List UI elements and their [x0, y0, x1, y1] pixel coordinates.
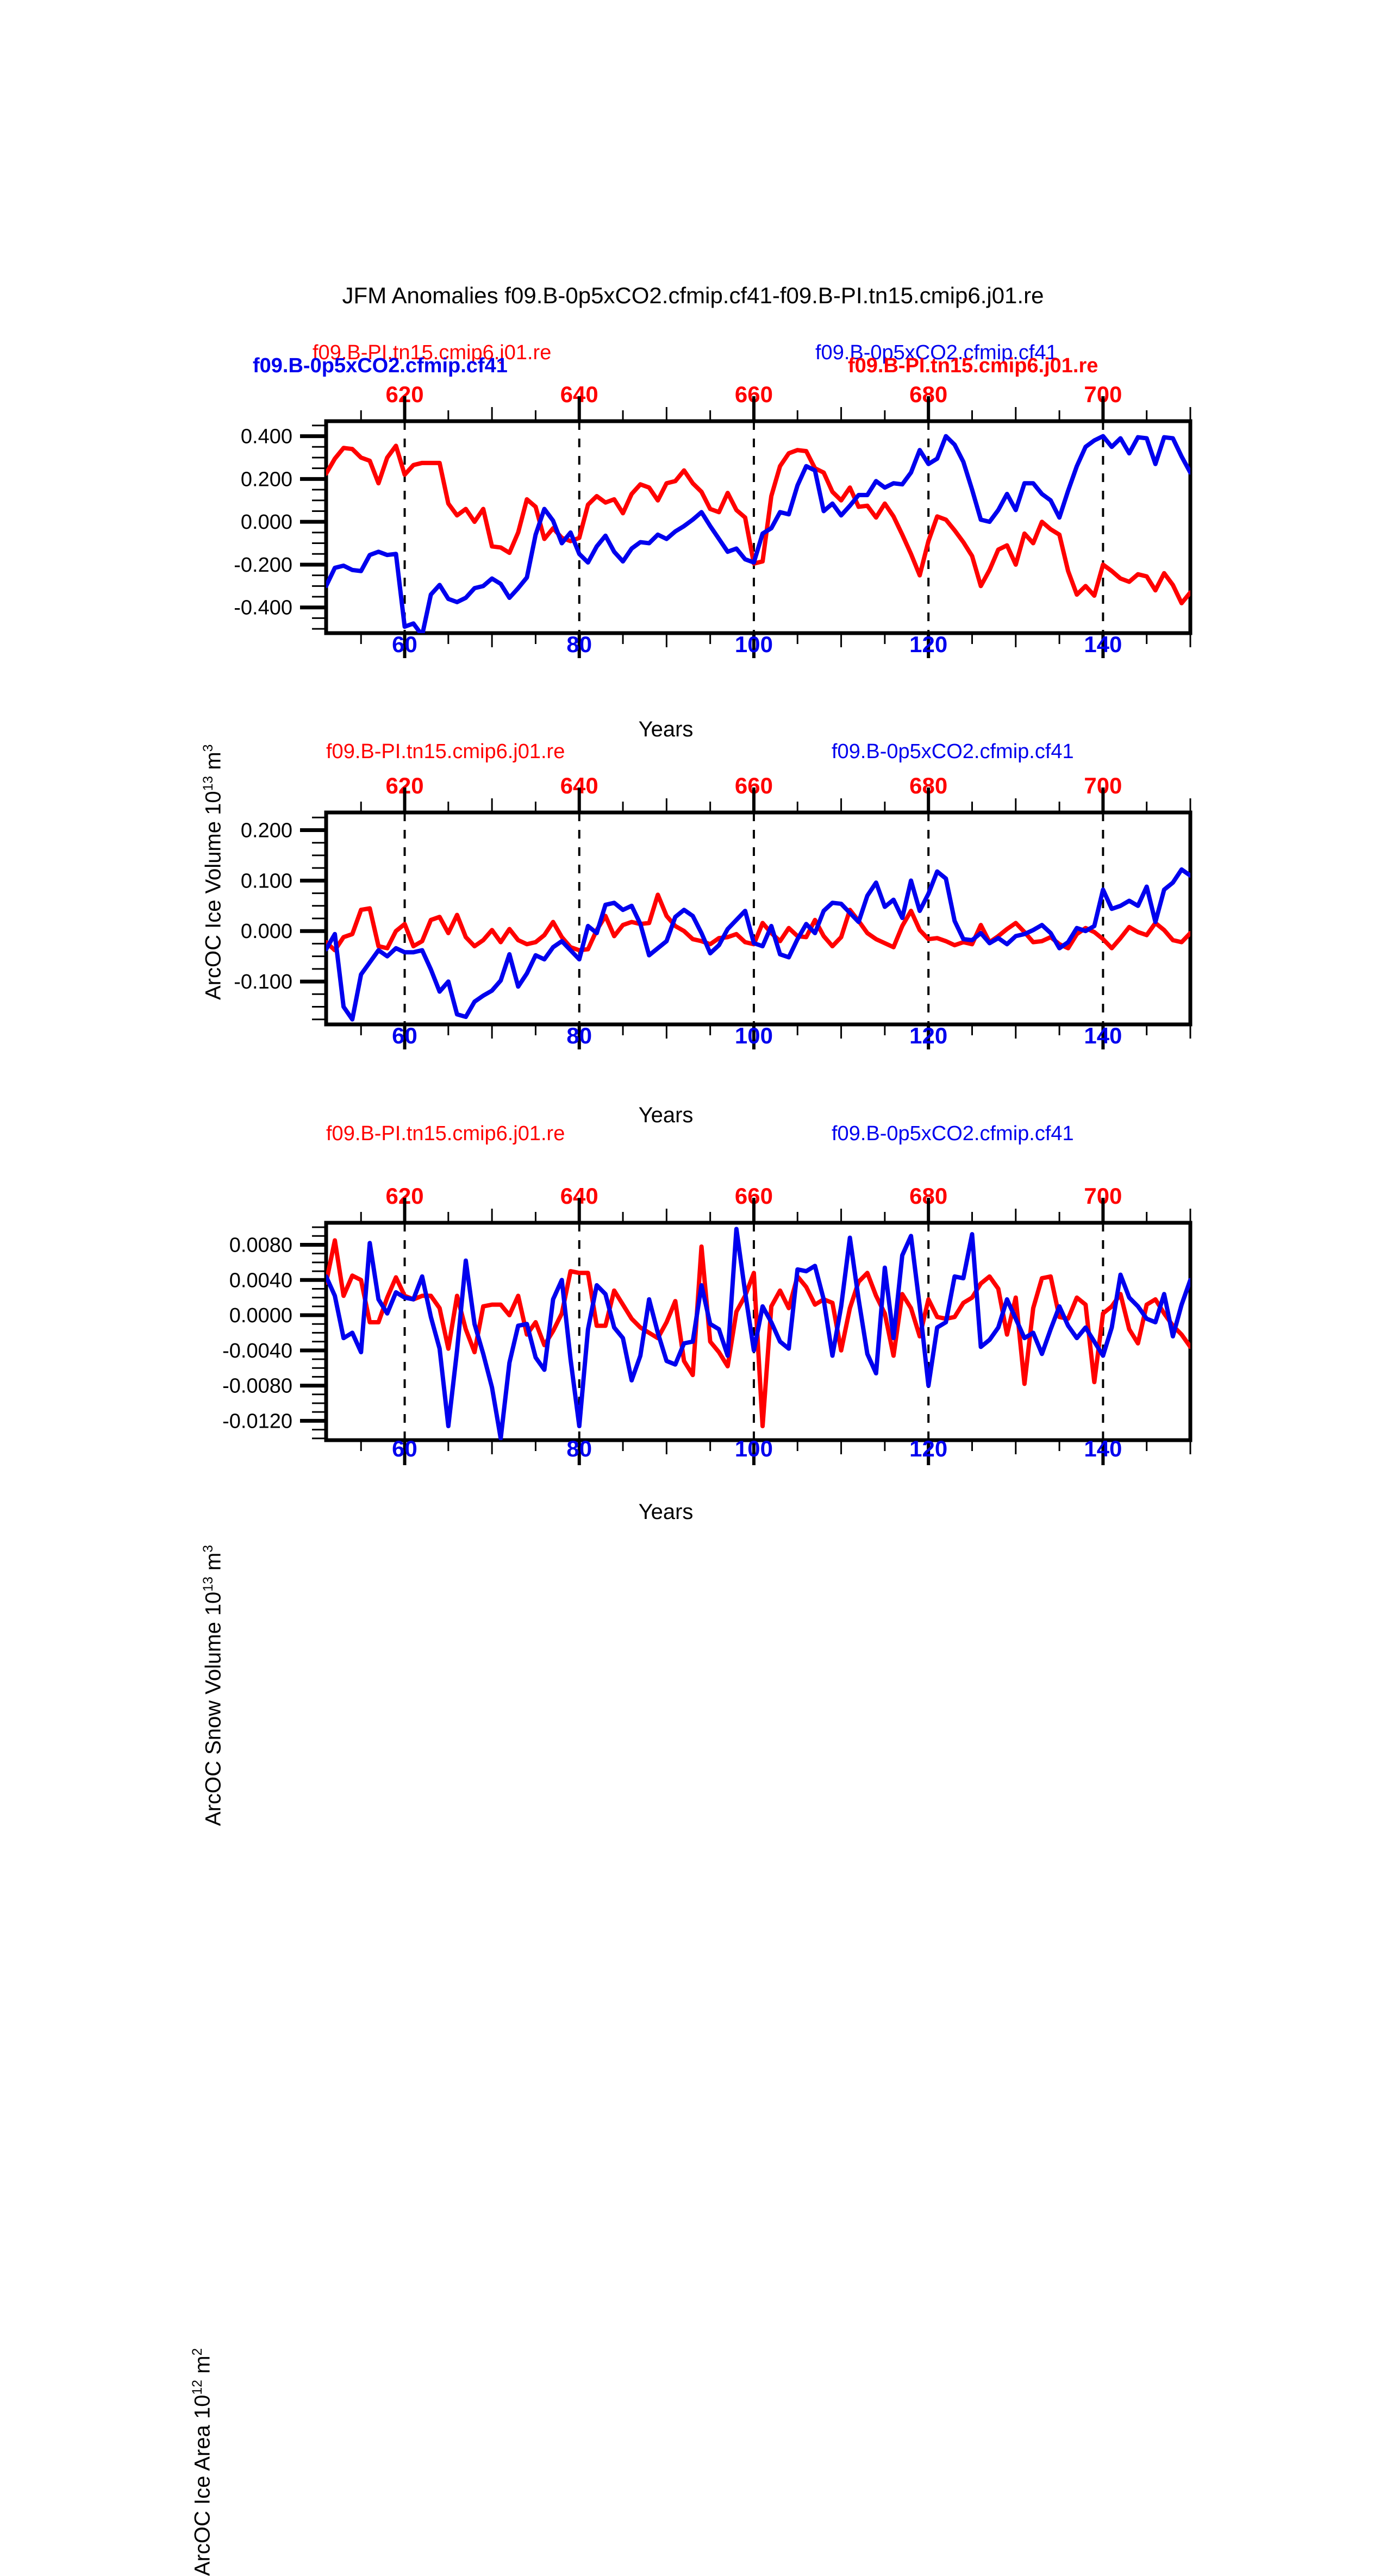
x-tick-label-blue: 120 — [909, 632, 947, 657]
panel2-legend-blue: f09.B-0p5xCO2.cfmip.cf41 — [832, 740, 1074, 764]
panel2-plot: 620640660680700 0.2000.1000.000-0.100 60… — [0, 745, 1386, 1071]
x-tick-label-blue: 140 — [1084, 1436, 1122, 1461]
series-line — [326, 446, 1190, 603]
y-tick-label: -0.0080 — [222, 1375, 292, 1398]
panel3-x-axis-title: Years — [584, 1500, 747, 1524]
y-tick-label: -0.100 — [234, 971, 292, 993]
x-tick-label-blue: 100 — [735, 1436, 773, 1461]
x-tick-label-blue: 60 — [392, 1023, 417, 1048]
series-line — [326, 1229, 1190, 1438]
y-tick-label: 0.0080 — [229, 1234, 292, 1256]
x-tick-label-blue: 80 — [566, 632, 592, 657]
panel-ice-volume: ArcOC Ice Volume 1013 m3 f09.B-PI.tn15.c… — [0, 326, 1386, 674]
x-tick-label-blue: 100 — [735, 632, 773, 657]
series-line — [326, 895, 1190, 950]
x-tick-label-blue: 80 — [566, 1023, 592, 1048]
panel3-y-axis-title: ArcOC Ice Area 1012 m2 — [190, 2348, 215, 2576]
x-tick-label-blue: 140 — [1084, 1023, 1122, 1048]
panel1-plot: 620640660680700 0.4000.2000.000-0.200-0.… — [0, 326, 1386, 674]
y-tick-label: -0.0120 — [222, 1410, 292, 1433]
figure-page: JFM Anomalies f09.B-0p5xCO2.cfmip.cf41-f… — [0, 0, 1386, 1793]
panel1-legend-right-red: f09.B-PI.tn15.cmip6.j01.re — [848, 354, 1098, 378]
x-tick-label-blue: 60 — [392, 632, 417, 657]
x-tick-label-blue: 120 — [909, 1436, 947, 1461]
panel-snow-volume: ArcOC Snow Volume 1013 m3 f09.B-PI.tn15.… — [0, 745, 1386, 1071]
y-tick-label: 0.400 — [241, 426, 292, 448]
x-tick-label-blue: 80 — [566, 1436, 592, 1461]
y-tick-label: 0.000 — [241, 920, 292, 943]
panel-ice-area: ArcOC Ice Area 1012 m2 f09.B-PI.tn15.cmi… — [0, 1125, 1386, 1473]
y-tick-label: 0.200 — [241, 820, 292, 842]
y-tick-label: 0.0040 — [229, 1269, 292, 1292]
x-tick-label-blue: 120 — [909, 1023, 947, 1048]
y-tick-label: -0.200 — [234, 554, 292, 577]
y-tick-label: -0.0040 — [222, 1340, 292, 1362]
panel1-legend-left-blue: f09.B-0p5xCO2.cfmip.cf41 — [253, 354, 508, 378]
panel3-legend-blue: f09.B-0p5xCO2.cfmip.cf41 — [832, 1122, 1074, 1146]
x-tick-label-blue: 100 — [735, 1023, 773, 1048]
y-tick-label: 0.000 — [241, 511, 292, 534]
panel2-x-axis-title: Years — [584, 1103, 747, 1128]
panel2-legend-red: f09.B-PI.tn15.cmip6.j01.re — [326, 740, 565, 764]
y-tick-label: 0.100 — [241, 870, 292, 892]
figure-title: JFM Anomalies f09.B-0p5xCO2.cfmip.cf41-f… — [0, 283, 1386, 309]
panel3-plot: 620640660680700 0.00800.00400.0000-0.004… — [0, 1125, 1386, 1473]
x-tick-label-blue: 60 — [392, 1436, 417, 1461]
y-tick-label: -0.400 — [234, 597, 292, 620]
y-tick-label: 0.0000 — [229, 1304, 292, 1327]
panel2-y-axis-title: ArcOC Snow Volume 1013 m3 — [201, 1545, 226, 1826]
panel3-legend-red: f09.B-PI.tn15.cmip6.j01.re — [326, 1122, 565, 1146]
x-tick-label-blue: 140 — [1084, 632, 1122, 657]
y-tick-label: 0.200 — [241, 468, 292, 491]
panel1-x-axis-title: Years — [584, 717, 747, 742]
